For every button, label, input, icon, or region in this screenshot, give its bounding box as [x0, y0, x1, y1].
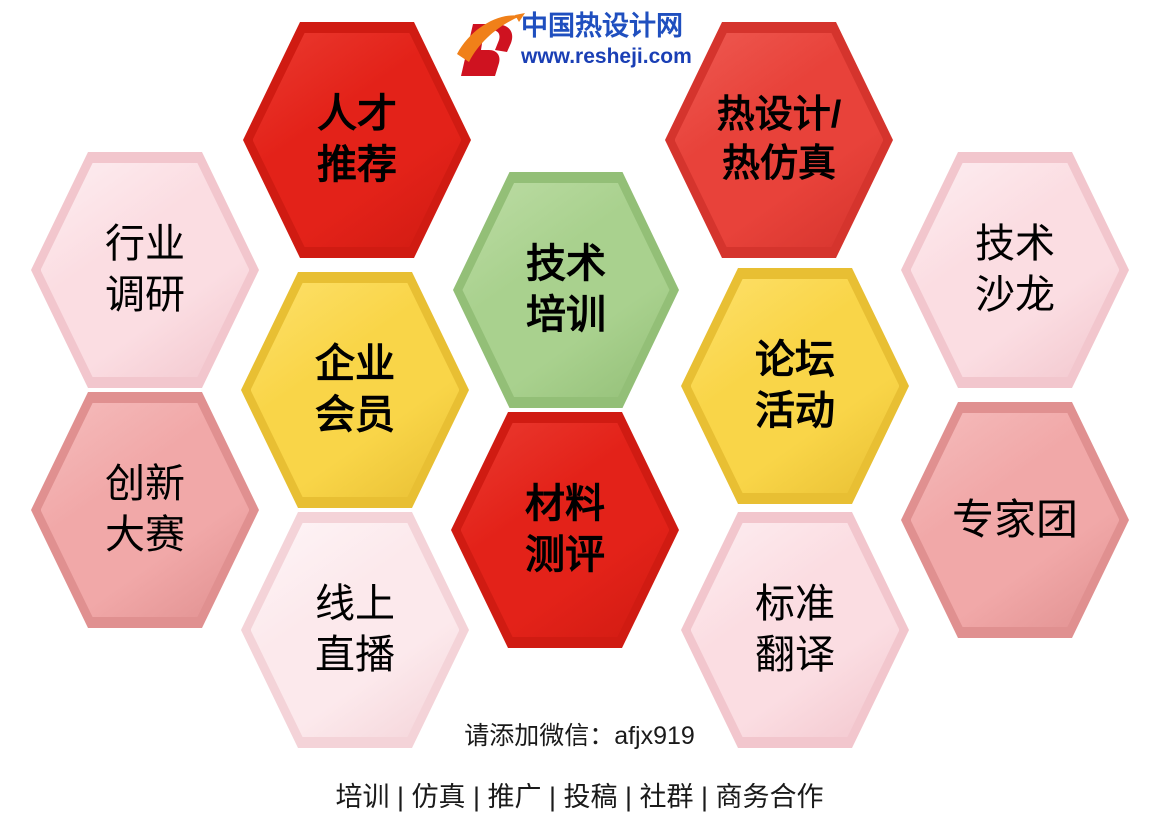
hex-cell-thermal-design-simulation[interactable]: 热设计/ 热仿真 — [665, 22, 893, 258]
hex-label-industry-research: 行业 调研 — [99, 219, 191, 321]
hex-label-technical-salon: 技术 沙龙 — [969, 219, 1061, 321]
logo-website: www.resheji.com — [521, 44, 671, 70]
hex-label-material-evaluation: 材料 测评 — [519, 479, 611, 581]
hex-cell-corporate-membership[interactable]: 企业 会员 — [241, 272, 469, 508]
hex-label-expert-team: 专家团 — [946, 493, 1084, 547]
site-logo[interactable]: 中国热设计网 www.resheji.com — [455, 8, 670, 84]
hex-label-online-live-streaming: 线上 直播 — [309, 579, 401, 681]
hex-cell-talent-recommendation[interactable]: 人才 推荐 — [243, 22, 471, 258]
honeycomb-infographic: 中国热设计网 www.resheji.com 人才 推荐热设计/ 热仿真行业 调… — [0, 0, 1159, 828]
services-list-text: 培训 | 仿真 | 推广 | 投稿 | 社群 | 商务合作 — [0, 775, 1159, 814]
hex-cell-expert-team[interactable]: 专家团 — [901, 402, 1129, 638]
hex-cell-forum-activities[interactable]: 论坛 活动 — [681, 268, 909, 504]
hex-label-corporate-membership: 企业 会员 — [309, 339, 401, 441]
wechat-contact-text: 请添加微信：afjx919 — [0, 716, 1159, 752]
hex-cell-technical-training[interactable]: 技术 培训 — [453, 172, 679, 408]
hex-cell-industry-research[interactable]: 行业 调研 — [31, 152, 259, 388]
hex-cell-online-live-streaming[interactable]: 线上 直播 — [241, 512, 469, 748]
hex-label-thermal-design-simulation: 热设计/ 热仿真 — [711, 91, 848, 188]
hex-label-technical-training: 技术 培训 — [520, 239, 612, 341]
hex-cell-material-evaluation[interactable]: 材料 测评 — [451, 412, 679, 648]
hex-label-innovation-competition: 创新 大赛 — [99, 459, 191, 561]
hex-label-forum-activities: 论坛 活动 — [749, 335, 841, 437]
hex-cell-technical-salon[interactable]: 技术 沙龙 — [901, 152, 1129, 388]
hex-label-standards-translation: 标准 翻译 — [749, 579, 841, 681]
logo-text-block: 中国热设计网 www.resheji.com — [521, 10, 671, 80]
logo-brand-cn: 中国热设计网 — [521, 10, 671, 42]
logo-r-mark-icon — [455, 10, 527, 80]
hex-cell-standards-translation[interactable]: 标准 翻译 — [681, 512, 909, 748]
hex-cell-innovation-competition[interactable]: 创新 大赛 — [31, 392, 259, 628]
hex-label-talent-recommendation: 人才 推荐 — [311, 89, 403, 191]
